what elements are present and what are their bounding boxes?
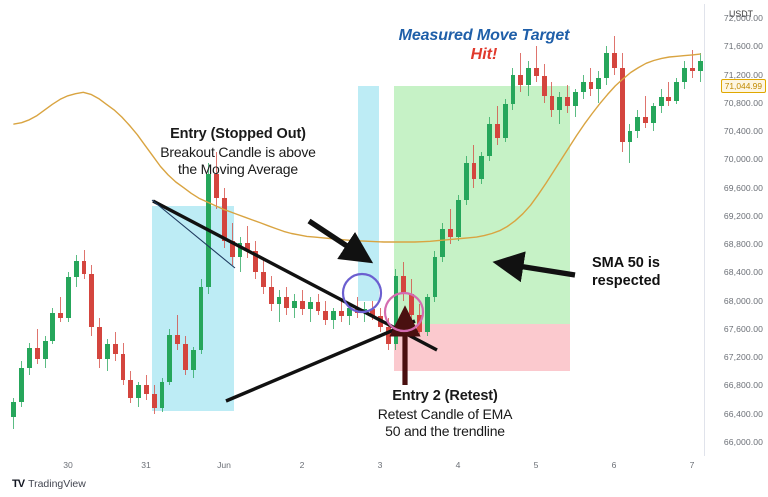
price-tick: 66,400.00 [724, 409, 763, 419]
annotation-entry-1-title: Entry (Stopped Out) [108, 126, 368, 144]
tradingview-mark-icon: TV [12, 478, 24, 490]
price-tick: 69,200.00 [724, 211, 763, 221]
annotation-measured-line2: Hit! [352, 45, 616, 64]
tradingview-chart-screenshot: Bitcoin / TetherUS, 1h USDT 72,000.0071,… [0, 0, 768, 497]
time-tick: 3 [378, 460, 383, 470]
price-axis[interactable]: USDT 72,000.0071,600.0071,200.0070,800.0… [704, 4, 768, 456]
price-tick: 66,000.00 [724, 437, 763, 447]
price-tick: 66,800.00 [724, 380, 763, 390]
annotation-entry-1: Entry (Stopped Out) Breakout Candle is a… [108, 126, 368, 178]
annotation-measured-line1: Measured Move Target [352, 26, 616, 45]
tradingview-brand-text: TradingView [28, 478, 86, 490]
annotation-sma-50: SMA 50 is respected [592, 254, 712, 290]
time-tick: 6 [612, 460, 617, 470]
price-tick: 67,600.00 [724, 324, 763, 334]
time-tick: 30 [63, 460, 73, 470]
annotation-entry-1-line1: Breakout Candle is above [108, 144, 368, 161]
price-tick: 70,800.00 [724, 98, 763, 108]
time-tick: 31 [141, 460, 151, 470]
annotation-measured-move: Measured Move Target Hit! [352, 26, 616, 64]
time-tick: 2 [300, 460, 305, 470]
price-tick: 67,200.00 [724, 352, 763, 362]
price-tick: 70,000.00 [724, 154, 763, 164]
price-tick: 68,000.00 [724, 296, 763, 306]
price-tick: 68,800.00 [724, 239, 763, 249]
time-axis[interactable]: 3031Jun234567 [10, 456, 758, 478]
price-tick: 69,600.00 [724, 183, 763, 193]
time-tick: 4 [456, 460, 461, 470]
price-tick: 70,400.00 [724, 126, 763, 136]
annotation-entry-2-title: Entry 2 (Retest) [318, 388, 572, 406]
annotation-entry-2: Entry 2 (Retest) Retest Candle of EMA 50… [318, 388, 572, 440]
time-tick: 7 [690, 460, 695, 470]
annotation-entry-2-line1: Retest Candle of EMA [318, 406, 572, 423]
price-tick: 71,600.00 [724, 41, 763, 51]
annotation-sma-line2: respected [592, 272, 712, 290]
annotation-entry-2-line2: 50 and the trendline [318, 423, 572, 440]
price-tick: 72,000.00 [724, 13, 763, 23]
annotation-entry-1-line2: the Moving Average [108, 161, 368, 178]
time-tick: 5 [534, 460, 539, 470]
price-tick: 68,400.00 [724, 267, 763, 277]
annotation-sma-line1: SMA 50 is [592, 254, 712, 272]
last-price-badge: 71,044.99 [721, 79, 766, 93]
time-tick: Jun [217, 460, 231, 470]
tradingview-logo[interactable]: TV TradingView [12, 478, 86, 490]
